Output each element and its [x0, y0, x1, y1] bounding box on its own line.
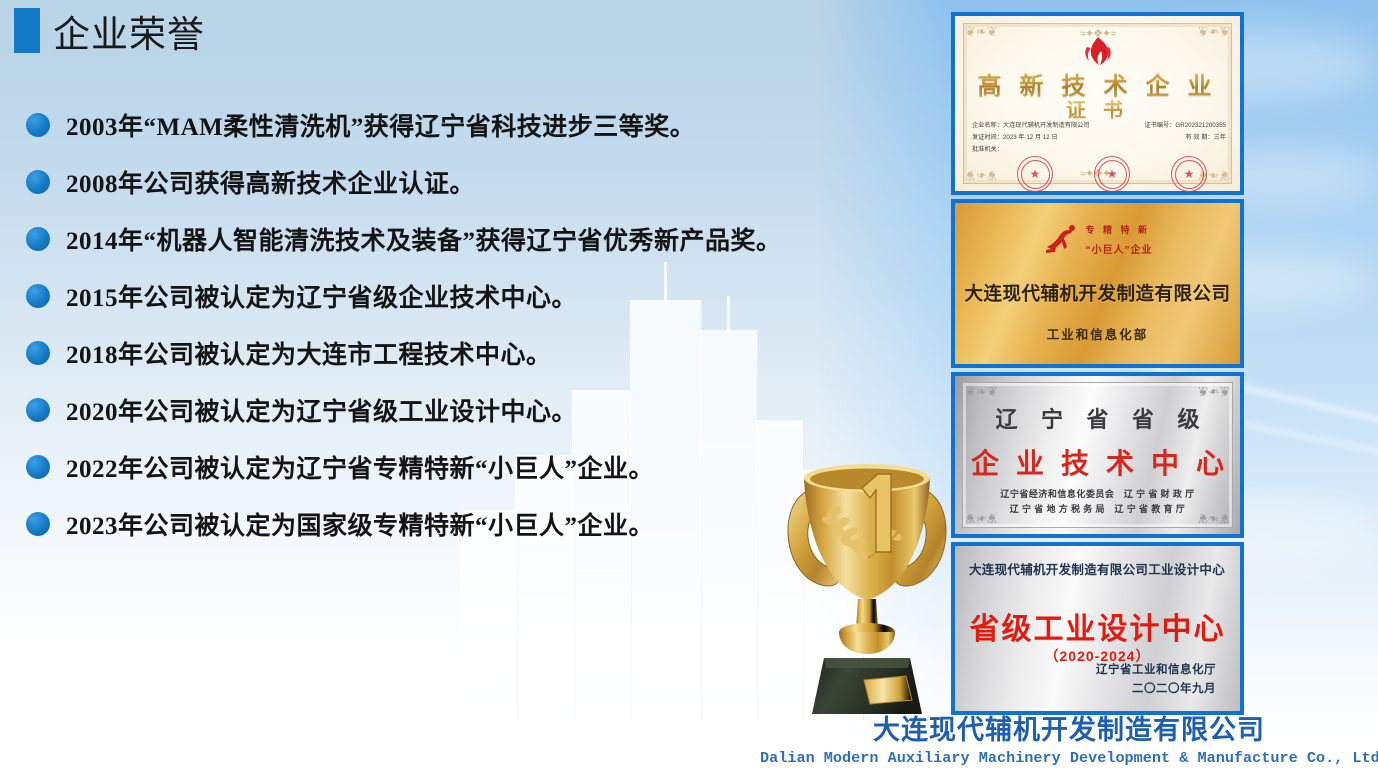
certificate-issue-date-field: 发证时间：2023 年 12 月 12 日 [972, 132, 1058, 144]
running-figure-icon [1043, 224, 1079, 254]
bullet-dot-icon [26, 512, 50, 536]
plaque-issuer-line-2: 辽 宁 省 地 方 税 务 局 辽 宁 省 教 育 厅 [955, 502, 1240, 516]
bullet-dot-icon [26, 227, 50, 251]
badge-line-1: 专 精 特 新 [1086, 225, 1151, 235]
certificate-high-tech-enterprise[interactable]: ❦❧❦ ❦❧❦ ❦❧❦ ❦❧❦ ≈✦❖✦≈ ≈✦❖✦≈ 高 新 技 术 企 业 … [951, 12, 1244, 195]
list-item: 2008年公司获得高新技术企业认证。 [26, 153, 926, 210]
official-seal-icon [1171, 156, 1207, 192]
bullet-dot-icon [26, 455, 50, 479]
corner-ornament-icon: ❦❧❦ [965, 25, 999, 53]
plaque-issuer-line-1: 辽宁省工业和信息化厅 [1096, 661, 1216, 680]
footer: 大连现代辅机开发制造有限公司 Dalian Modern Auxiliary M… [760, 708, 1378, 767]
plaque-company-name: 大连现代辅机开发制造有限公司 [955, 280, 1240, 306]
badge-line-2: “小巨人”企业 [1086, 245, 1153, 256]
certificate-enterprise-tech-center[interactable]: ❦❧❦ ❦❧❦ ❦❧❦ ❦❧❦ 辽 宁 省 省 级 企 业 技 术 中 心 辽宁… [951, 372, 1244, 538]
slide-canvas: 企业荣誉 2003年“MAM柔性清洗机”获得辽宁省科技进步三等奖。 2008年公… [0, 0, 1378, 771]
title-accent-bar [14, 8, 40, 53]
list-item-label: 2023年公司被认定为国家级专精特新“小巨人”企业。 [66, 506, 654, 542]
footer-company-en: Dalian Modern Auxiliary Machinery Develo… [760, 749, 1378, 767]
certificate-fields: 企业名称：大连现代辅机开发制造有限公司 证书编号：GR202321200355 … [972, 120, 1226, 156]
plaque-issuers: 辽宁省经济和信息化委员会 辽 宁 省 财 政 厅 辽 宁 省 地 方 税 务 局… [955, 487, 1240, 516]
certificate-industrial-design-center[interactable]: 大连现代辅机开发制造有限公司工业设计中心 省级工业设计中心 （2020-2024… [951, 542, 1244, 715]
list-item-label: 2018年公司被认定为大连市工程技术中心。 [66, 335, 552, 371]
list-item: 2003年“MAM柔性清洗机”获得辽宁省科技进步三等奖。 [26, 96, 926, 153]
plaque-line-2: 企 业 技 术 中 心 [955, 442, 1240, 482]
plaque-main-line: 省级工业设计中心 [955, 604, 1240, 648]
certificate-authority-field: 批准机关： [972, 144, 1003, 156]
certificate-validity-field: 有 效 期：三年 [1185, 132, 1226, 144]
footer-company-cn: 大连现代辅机开发制造有限公司 [760, 708, 1378, 747]
slide-title-row: 企业荣誉 [0, 0, 940, 62]
bullet-dot-icon [26, 113, 50, 137]
bullet-dot-icon [26, 398, 50, 422]
list-item-label: 2020年公司被认定为辽宁省级工业设计中心。 [66, 392, 577, 428]
page-title: 企业荣誉 [53, 4, 205, 58]
little-giant-badge: 专 精 特 新 “小巨人”企业 [1043, 219, 1153, 259]
certificate-company-field: 企业名称：大连现代辅机开发制造有限公司 [972, 120, 1090, 132]
bullet-dot-icon [26, 170, 50, 194]
corner-ornament-icon: ❦❧❦ [965, 154, 999, 182]
bullet-dot-icon [26, 341, 50, 365]
plaque-issuer-line-2: 二〇二〇年九月 [1096, 680, 1216, 699]
bullet-dot-icon [26, 284, 50, 308]
list-item-label: 2015年公司被认定为辽宁省级企业技术中心。 [66, 278, 577, 314]
certificate-number-field: 证书编号：GR202321200355 [1144, 120, 1226, 132]
list-item: 2015年公司被认定为辽宁省级企业技术中心。 [26, 267, 926, 324]
plaque-validity: 有效期：2023年7月1日-2026年6月30日 [955, 363, 1240, 368]
list-item: 2014年“机器人智能清洗技术及装备”获得辽宁省优秀新产品奖。 [26, 210, 926, 267]
list-item: 2020年公司被认定为辽宁省级工业设计中心。 [26, 381, 926, 438]
plaque-issuer-line-1: 辽宁省经济和信息化委员会 辽 宁 省 财 政 厅 [955, 487, 1240, 501]
list-item-label: 2014年“机器人智能清洗技术及装备”获得辽宁省优秀新产品奖。 [66, 221, 782, 257]
list-item-label: 2003年“MAM柔性清洗机”获得辽宁省科技进步三等奖。 [66, 107, 695, 143]
list-item-label: 2022年公司被认定为辽宁省专精特新“小巨人”企业。 [66, 449, 654, 485]
plaque-department: 工业和信息化部 [955, 324, 1240, 343]
plaque-line-1: 辽 宁 省 省 级 [955, 402, 1240, 434]
corner-ornament-icon: ❦❧❦ [1196, 25, 1230, 53]
list-item: 2018年公司被认定为大连市工程技术中心。 [26, 324, 926, 381]
official-seal-icon [1017, 156, 1053, 192]
plaque-top-line: 大连现代辅机开发制造有限公司工业设计中心 [969, 559, 1225, 578]
trophy-icon [772, 432, 962, 732]
certificate-seals [1017, 156, 1207, 192]
list-item-label: 2008年公司获得高新技术企业认证。 [66, 164, 475, 200]
plaque-issuer: 辽宁省工业和信息化厅 二〇二〇年九月 [1096, 661, 1216, 699]
certificate-little-giant-plaque[interactable]: 专 精 特 新 “小巨人”企业 大连现代辅机开发制造有限公司 工业和信息化部 有… [951, 199, 1244, 368]
official-seal-icon [1094, 156, 1130, 192]
certificate-gallery: ❦❧❦ ❦❧❦ ❦❧❦ ❦❧❦ ≈✦❖✦≈ ≈✦❖✦≈ 高 新 技 术 企 业 … [951, 12, 1244, 719]
certificate-subtitle: 证 书 [955, 94, 1240, 123]
